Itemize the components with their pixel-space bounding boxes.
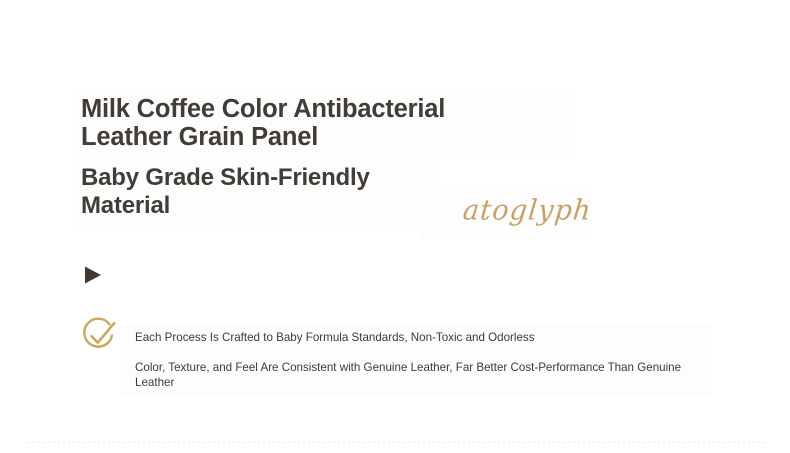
page-title: Milk Coffee Color Antibacterial Leather … (81, 96, 481, 151)
play-triangle-icon[interactable] (83, 265, 103, 285)
page-subtitle: Baby Grade Skin-Friendly Material (81, 164, 411, 219)
feature-item-1: Each Process Is Crafted to Baby Formula … (135, 330, 655, 345)
brand-wordmark: atoglyph (461, 195, 593, 226)
bottom-divider (28, 442, 768, 443)
feature-item-2: Color, Texture, and Feel Are Consistent … (135, 360, 710, 391)
circle-check-icon (81, 317, 119, 355)
